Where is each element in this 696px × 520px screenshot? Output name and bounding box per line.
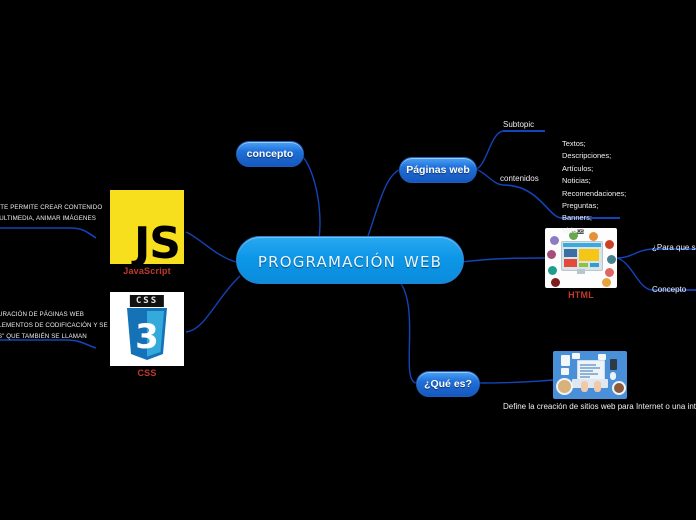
node-concepto-label: concepto	[247, 148, 294, 160]
list-item: Noticias;	[562, 175, 626, 187]
css-logo-card[interactable]: CSS 3 CSS	[110, 292, 184, 378]
css-description: TURACIÓN DE PÁGINAS WEB ELEMENTOS DE COD…	[0, 310, 108, 343]
css-description-line: ELEMENTOS DE CODIFICACIÓN Y SE	[0, 321, 108, 332]
javascript-description-line: MULTIMEDIA, ANIMAR IMÁGENES	[0, 214, 102, 225]
css-description-line: TS" QUE TAMBIÉN SE LLAMAN	[0, 332, 108, 343]
javascript-logo-icon: JS	[110, 190, 184, 264]
css-logo-banner: CSS	[130, 295, 164, 307]
monitor-shape	[561, 241, 603, 271]
label-concepto-html[interactable]: Concepto	[652, 285, 686, 294]
html-caption: HTML	[545, 290, 617, 300]
mindmap-canvas: Programación web concepto Páginas web ¿Q…	[0, 0, 696, 520]
label-subtopic[interactable]: Subtopic	[503, 120, 534, 129]
node-que-es[interactable]: ¿Qué es?	[416, 371, 480, 397]
css-description-line: TURACIÓN DE PÁGINAS WEB	[0, 310, 108, 321]
css-logo-icon: CSS 3	[110, 292, 184, 366]
laptop-image-card[interactable]	[553, 351, 627, 399]
list-item: Textos;	[562, 138, 626, 150]
css-shield-icon: 3	[125, 308, 169, 360]
list-item: Videos;	[562, 225, 626, 237]
html-infographic-icon	[545, 228, 617, 288]
label-define-description: Define la creación de sitios web para In…	[503, 402, 696, 411]
node-paginas-web-label: Páginas web	[406, 164, 470, 176]
javascript-logo-card[interactable]: JS JavaScript	[110, 190, 184, 276]
css-logo-digit: 3	[135, 317, 159, 357]
central-node-label: Programación web	[258, 248, 442, 272]
list-item: Preguntas;	[562, 200, 626, 212]
javascript-description: N TE PERMITE CREAR CONTENIDO MULTIMEDIA,…	[0, 203, 102, 225]
list-item: Descripciones;	[562, 150, 626, 162]
list-item: Recomendaciones;	[562, 188, 626, 200]
list-item: Banners;	[562, 212, 626, 224]
label-contenidos[interactable]: contenidos	[500, 174, 539, 183]
laptop-illustration-icon	[553, 351, 627, 399]
javascript-description-line: N TE PERMITE CREAR CONTENIDO	[0, 203, 102, 214]
node-concepto[interactable]: concepto	[236, 141, 304, 167]
label-para-que-sirve[interactable]: ¿Para que sirve	[652, 243, 696, 252]
javascript-logo-text: JS	[134, 222, 180, 266]
node-paginas-web[interactable]: Páginas web	[399, 157, 477, 183]
node-que-es-label: ¿Qué es?	[424, 378, 472, 390]
contenidos-list: Textos; Descripciones; Artículos; Notici…	[562, 138, 626, 237]
list-item: Artículos;	[562, 163, 626, 175]
html-image-card[interactable]: HTML	[545, 228, 617, 300]
css-caption: CSS	[110, 368, 184, 378]
central-node[interactable]: Programación web	[236, 236, 464, 284]
